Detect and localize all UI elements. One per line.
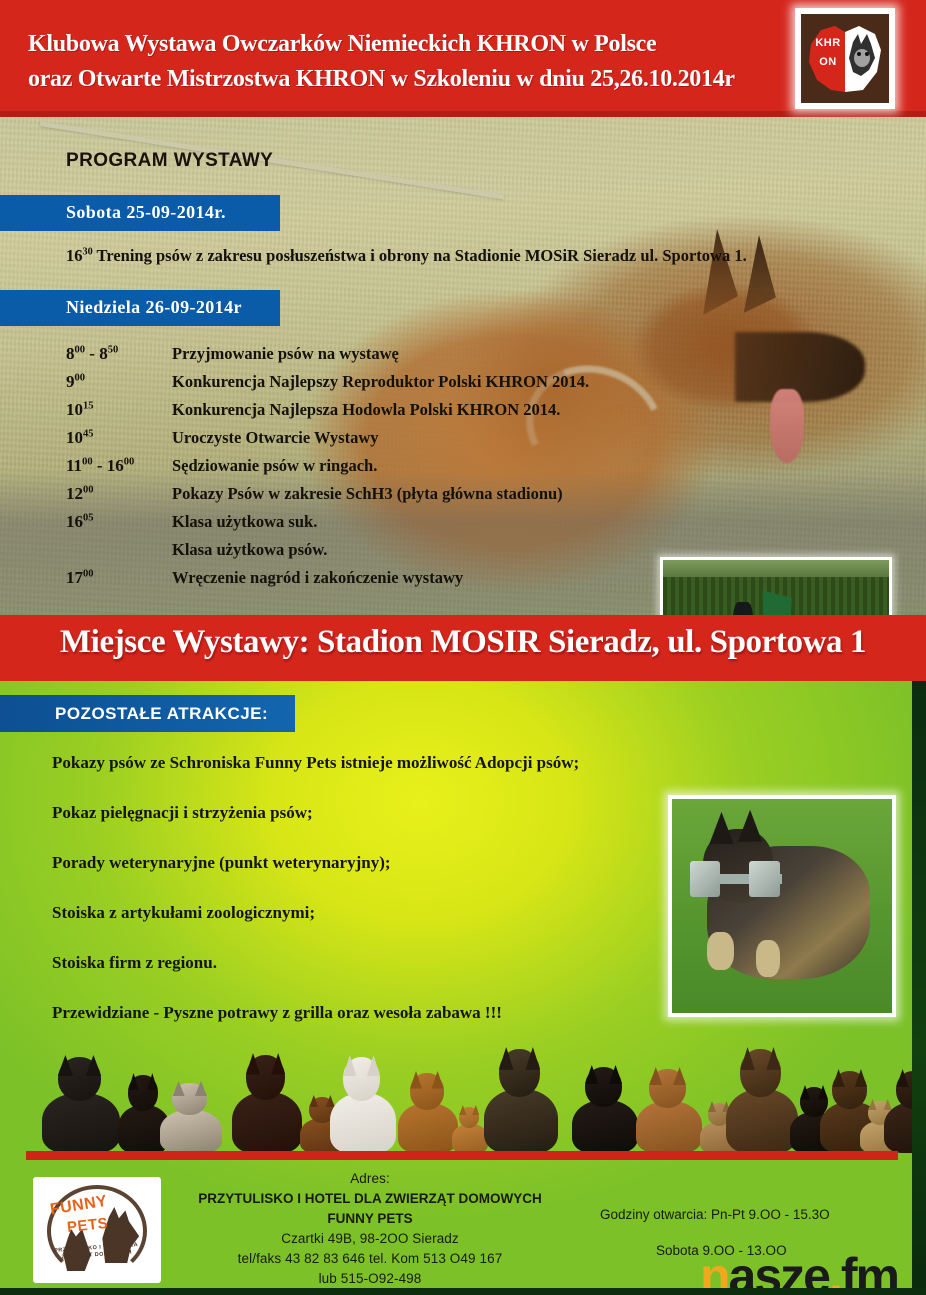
page-title-line1: Klubowa Wystawa Owczarków Niemieckich KH… <box>28 27 768 62</box>
attractions-list: Pokazy psów ze Schroniska Funny Pets ist… <box>52 753 692 1053</box>
poster-root: Klubowa Wystawa Owczarków Niemieckich KH… <box>0 0 926 1295</box>
dumbbell-weight-right <box>749 861 780 897</box>
address-line-2: FUNNY PETS <box>170 1209 570 1229</box>
attraction-item: Porady weterynaryjne (punkt weterynaryjn… <box>52 853 692 903</box>
dumbbell-photo-dog-leg-rear <box>756 940 780 976</box>
dog-figure-body <box>42 1093 120 1153</box>
attractions-bar: POZOSTAŁE ATRAKCJE: <box>0 695 295 732</box>
saturday-time: 16 <box>66 246 83 265</box>
footer: FUNNY PETS PRZYTULISKO I HOTEL DLA ZWIER… <box>0 1167 926 1295</box>
attractions-bar-label: POZOSTAŁE ATRAKCJE: <box>55 704 268 724</box>
schedule-description: Uroczyste Otwarcie Wystawy <box>172 428 379 448</box>
dog-figure <box>636 1069 702 1153</box>
dog-figure-body <box>572 1100 638 1153</box>
page-title-line2: oraz Otwarte Mistrzostwa KHRON w Szkolen… <box>28 62 768 97</box>
dog-figure <box>160 1083 222 1153</box>
dog-figure <box>398 1073 458 1153</box>
schedule-time: 1045 <box>66 428 172 448</box>
address-phone-alt: lub 515-O92-498 <box>170 1269 570 1289</box>
schedule-description: Przyjmowanie psów na wystawę <box>172 344 399 364</box>
attractions-section: POZOSTAŁE ATRAKCJE: Pokazy psów ze Schro… <box>0 681 926 1295</box>
khron-logo: KHR ON <box>795 8 895 109</box>
schedule-row: 1015Konkurencja Najlepsza Hodowla Polski… <box>66 400 866 428</box>
saturday-time-minutes: 30 <box>83 247 93 258</box>
schedule-time: 1605 <box>66 512 172 532</box>
schedule-time: 1700 <box>66 568 172 588</box>
dog-figure <box>572 1067 638 1153</box>
venue-banner: Miejsce Wystawy: Stadion MOSIR Sieradz, … <box>0 615 926 681</box>
dog-figure <box>484 1049 558 1153</box>
attraction-item: Stoiska firm z regionu. <box>52 953 692 1003</box>
schedule-description: Klasa użytkowa psów. <box>172 540 327 560</box>
header-title-block: Klubowa Wystawa Owczarków Niemieckich KH… <box>28 27 768 97</box>
dog-figure <box>726 1049 798 1153</box>
schedule-description: Sędziowanie psów w ringach. <box>172 456 377 476</box>
schedule-description: Pokazy Psów w zakresie SchH3 (płyta głów… <box>172 484 563 504</box>
sunday-bar: Niedziela 26-09-2014r <box>0 290 280 326</box>
khron-logo-inner: KHR ON <box>801 14 889 103</box>
header-banner: Klubowa Wystawa Owczarków Niemieckich KH… <box>0 0 926 117</box>
khron-logo-text-bottom: ON <box>815 56 841 68</box>
logo-arc-text: PRZYTULISKO I HOTEL DLA ZWIERZĄT DOMOWYC… <box>50 1242 144 1278</box>
dog-figure-body <box>726 1089 798 1153</box>
schedule-time: 900 <box>66 372 172 392</box>
protection-training-photo <box>660 557 892 615</box>
dog-figure <box>330 1057 396 1153</box>
dog-figure-body <box>330 1093 396 1153</box>
dumbbell-photo-dog-leg-front <box>707 932 733 971</box>
schedule-time: 1200 <box>66 484 172 504</box>
saturday-event-line: 1630 Trening psów z zakresu posłuszeństw… <box>66 246 747 266</box>
dog-figure <box>452 1107 488 1153</box>
dog-figure-body <box>232 1092 302 1153</box>
schedule-time: 1015 <box>66 400 172 420</box>
schedule-row: 1200Pokazy Psów w zakresie SchH3 (płyta … <box>66 484 866 512</box>
attraction-item: Pokaz pielęgnacji i strzyżenia psów; <box>52 803 692 853</box>
saturday-bar: Sobota 25-09-2014r. <box>0 195 280 231</box>
dogs-group-photo <box>0 1021 926 1153</box>
schedule-description: Wręczenie nagród i zakończenie wystawy <box>172 568 463 588</box>
address-line-3: Czartki 49B, 98-2OO Sieradz <box>170 1229 570 1249</box>
address-label: Adres: <box>170 1169 570 1189</box>
saturday-bar-label: Sobota 25-09-2014r. <box>66 202 226 223</box>
sunday-bar-label: Niedziela 26-09-2014r <box>66 297 242 318</box>
khron-logo-text-top: KHR <box>813 37 843 49</box>
funny-pets-logo: FUNNY PETS PRZYTULISKO I HOTEL DLA ZWIER… <box>33 1177 161 1283</box>
address-block: Adres: PRZYTULISKO I HOTEL DLA ZWIERZĄT … <box>170 1169 570 1289</box>
schedule-row: 1045Uroczyste Otwarcie Wystawy <box>66 428 866 456</box>
schedule-row: 1100 - 1600Sędziowanie psów w ringach. <box>66 456 866 484</box>
footer-divider <box>26 1151 898 1160</box>
venue-text: Miejsce Wystawy: Stadion MOSIR Sieradz, … <box>60 624 866 661</box>
address-phone: tel/faks 43 82 83 646 tel. Kom 513 O49 1… <box>170 1249 570 1269</box>
dog-figure-body <box>452 1124 488 1153</box>
dog-figure-body <box>636 1101 702 1153</box>
dog-figure <box>232 1055 302 1153</box>
poster-right-border <box>912 681 926 1295</box>
schedule-time: 1100 - 1600 <box>66 456 172 476</box>
poster-bottom-border <box>0 1288 926 1295</box>
dog-figure-body <box>484 1089 558 1153</box>
saturday-description: Trening psów z zakresu posłuszeństwa i o… <box>93 246 747 265</box>
schedule-row: 900Konkurencja Najlepszy Reproduktor Pol… <box>66 372 866 400</box>
program-heading: PROGRAM WYSTAWY <box>66 150 273 172</box>
attraction-item: Stoiska z artykułami zoologicznymi; <box>52 903 692 953</box>
schedule-row: 800 - 850Przyjmowanie psów na wystawę <box>66 344 866 372</box>
schedule-time: 800 - 850 <box>66 344 172 364</box>
dumbbell-weight-left <box>690 861 721 897</box>
schedule-row: 1605Klasa użytkowa suk. <box>66 512 866 540</box>
dog-with-dumbbell-photo <box>668 795 896 1017</box>
attraction-item: Pokazy psów ze Schroniska Funny Pets ist… <box>52 753 692 803</box>
opening-hours-weekday: Godziny otwarcia: Pn-Pt 9.OO - 15.3O <box>600 1197 910 1233</box>
schedule-description: Konkurencja Najlepszy Reproduktor Polski… <box>172 372 589 392</box>
program-section: PROGRAM WYSTAWY Sobota 25-09-2014r. 1630… <box>0 117 926 615</box>
schedule-description: Klasa użytkowa suk. <box>172 512 317 532</box>
photo-helper <box>733 602 753 615</box>
dog-figure-body <box>398 1103 458 1153</box>
address-line-1: PRZYTULISKO I HOTEL DLA ZWIERZĄT DOMOWYC… <box>170 1189 570 1209</box>
dog-figure-body <box>160 1110 222 1153</box>
dog-figure <box>42 1057 120 1153</box>
schedule-description: Konkurencja Najlepsza Hodowla Polski KHR… <box>172 400 560 420</box>
